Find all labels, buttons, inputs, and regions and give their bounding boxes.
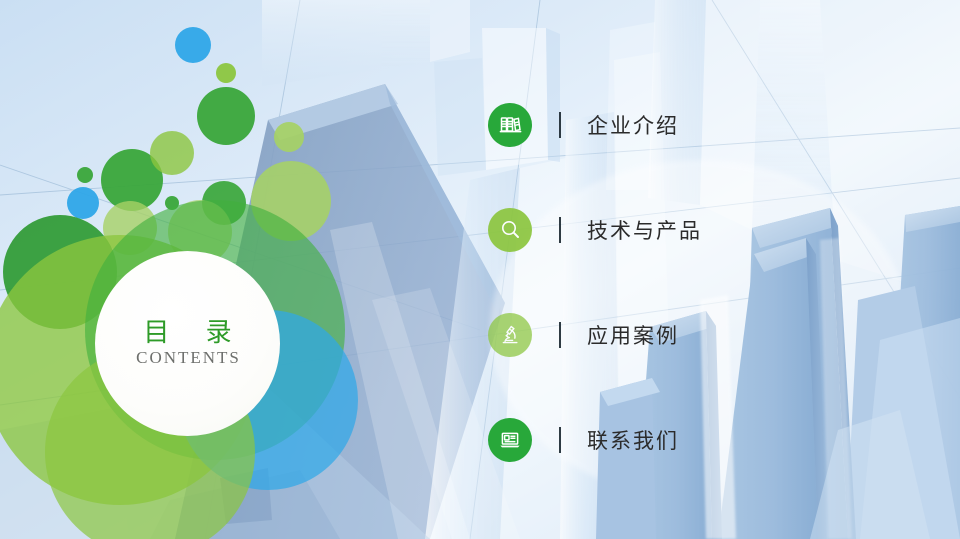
badge-contact-us[interactable] xyxy=(488,418,532,462)
menu-item-contact-us[interactable]: 联系我们 xyxy=(488,418,679,462)
laptop-icon xyxy=(497,427,523,453)
menu-item-tech-products[interactable]: 技术与产品 xyxy=(488,208,702,252)
menu-label-application-cases[interactable]: 应用案例 xyxy=(587,320,679,350)
magnifier-icon xyxy=(497,217,523,243)
contents-menu: 企业介绍 技术与产品 xyxy=(488,0,958,539)
badge-tech-products[interactable] xyxy=(488,208,532,252)
menu-separator xyxy=(559,217,561,243)
menu-label-contact-us[interactable]: 联系我们 xyxy=(587,425,679,455)
contents-title-cn: 目 录 xyxy=(129,319,245,348)
microscope-icon xyxy=(497,322,523,348)
contents-title-en: CONTENTS xyxy=(134,349,241,368)
binders-icon xyxy=(497,112,523,138)
menu-separator xyxy=(559,322,561,348)
menu-separator xyxy=(559,112,561,138)
contents-slide: 目 录 CONTENTS xyxy=(0,0,960,539)
menu-item-company-intro[interactable]: 企业介绍 xyxy=(488,103,679,147)
badge-company-intro[interactable] xyxy=(488,103,532,147)
menu-item-application-cases[interactable]: 应用案例 xyxy=(488,313,679,357)
menu-label-tech-products[interactable]: 技术与产品 xyxy=(587,215,702,245)
contents-disc: 目 录 CONTENTS xyxy=(95,251,280,436)
badge-application-cases[interactable] xyxy=(488,313,532,357)
menu-label-company-intro[interactable]: 企业介绍 xyxy=(587,110,679,140)
menu-separator xyxy=(559,427,561,453)
